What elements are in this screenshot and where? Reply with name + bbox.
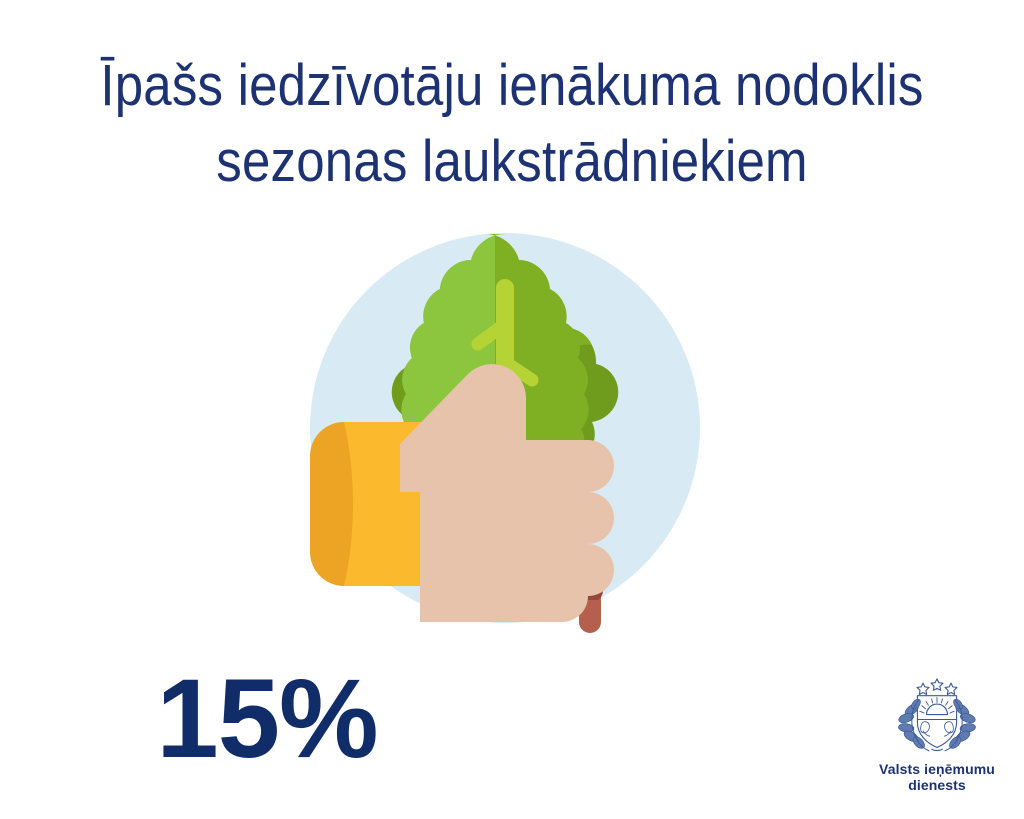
latvia-coat-of-arms-icon: [895, 676, 979, 756]
hand-wrist: [420, 440, 480, 620]
organization-logo: Valsts ieņēmumu dienests: [862, 676, 1012, 793]
organization-name-line-2: dienests: [862, 777, 1012, 793]
organization-name-line-1: Valsts ieņēmumu: [862, 761, 1012, 777]
page-title-line-1: Īpašs iedzīvotāju ienākuma nodoklis: [61, 48, 962, 124]
illustration-hand-holding-leafy-greens: [300, 228, 710, 638]
page-title: Īpašs iedzīvotāju ienākuma nodoklis sezo…: [0, 48, 1024, 200]
organization-name: Valsts ieņēmumu dienests: [862, 761, 1012, 793]
page-title-line-2: sezonas laukstrādniekiem: [61, 124, 962, 200]
